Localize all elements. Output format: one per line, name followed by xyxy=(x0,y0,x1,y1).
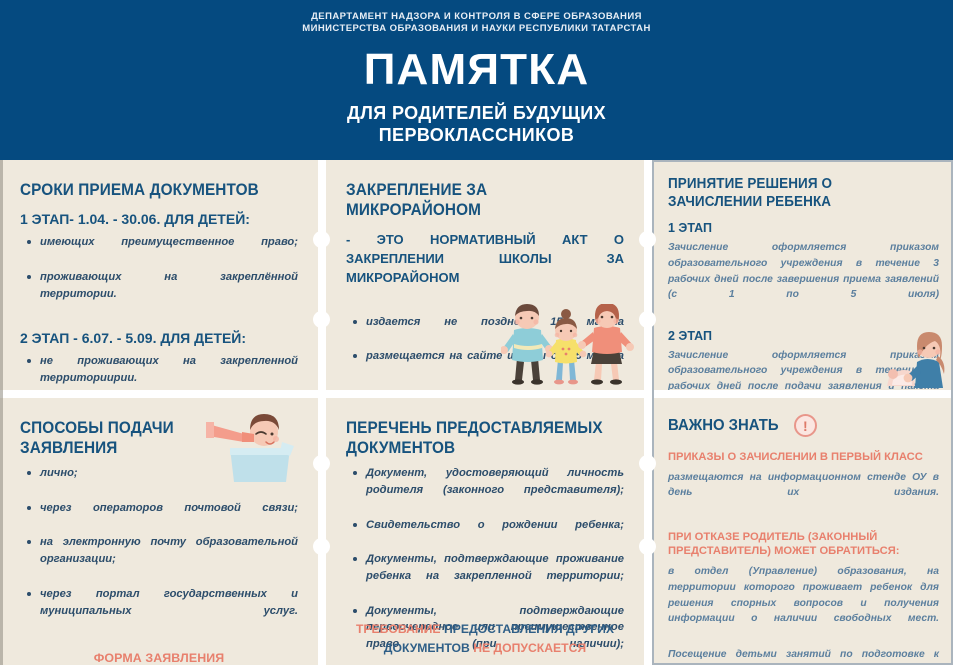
important-block-1-text: размещаются на информационном стенде ОУ … xyxy=(668,470,939,517)
panel-methods-title-line-2: ЗАЯВЛЕНИЯ xyxy=(20,438,279,458)
left-edge-strip xyxy=(0,160,3,665)
panel-documents-title-line-2: ДОКУМЕНТОВ xyxy=(346,438,605,458)
documents-note-red-1: ТРЕБОВАНИЕ xyxy=(356,622,441,636)
important-block-3-part-1: Посещение детьми занятий по подготовке к… xyxy=(668,649,939,665)
decision-stage-1-text: Зачисление оформляется приказом образова… xyxy=(668,240,939,318)
deadlines-stage-1-title: 1 ЭТАП- 1.04. - 30.06. ДЛЯ ДЕТЕЙ: xyxy=(20,211,298,227)
panel-decision: ПРИНЯТИЕ РЕШЕНИЯ О ЗАЧИСЛЕНИИ РЕБЕНКА 1 … xyxy=(652,160,953,390)
important-block-3-text: Посещение детьми занятий по подготовке к… xyxy=(668,647,939,665)
important-header: ВАЖНО ЗНАТЬ ! xyxy=(668,414,939,437)
list-item: проживающих на закреплённой территории. xyxy=(24,269,298,319)
panel-important-title: ВАЖНО ЗНАТЬ xyxy=(668,417,779,435)
divider-dot xyxy=(639,538,656,555)
list-item: Свидетельство о рождении ребенка; xyxy=(350,517,624,551)
methods-note-red: ФОРМА ЗАЯВЛЕНИЯ xyxy=(20,650,298,665)
methods-note: ФОРМА ЗАЯВЛЕНИЯ – НА САЙТЕ ОБРАЗОВАТЕЛЬН… xyxy=(20,650,298,665)
microdistrict-lead: - ЭТО НОРМАТИВНЫЙ АКТ О ЗАКРЕПЛЕНИИ ШКОЛ… xyxy=(346,231,624,306)
panel-decision-title-line-1: ПРИНЯТИЕ РЕШЕНИЯ О xyxy=(668,176,920,194)
panel-microdistrict: ЗАКРЕПЛЕНИЕ ЗА МИКРОРАЙОНОМ - ЭТО НОРМАТ… xyxy=(326,160,644,390)
divider-dot xyxy=(639,311,656,328)
important-block-2-caption: ПРИ ОТКАЗЕ РОДИТЕЛЬ (ЗАКОННЫЙ ПРЕДСТАВИТ… xyxy=(668,530,939,560)
department-line-2: МИНИСТЕРСТВА ОБРАЗОВАНИЯ И НАУКИ РЕСПУБЛ… xyxy=(302,23,651,35)
decision-stage-2-text: Зачисление оформляется приказом образова… xyxy=(668,348,939,390)
panel-methods: СПОСОБЫ ПОДАЧИ ЗАЯВЛЕНИЯ лично; через оп… xyxy=(0,398,318,665)
panel-methods-title-line-1: СПОСОБЫ ПОДАЧИ xyxy=(20,418,279,438)
panel-deadlines: СРОКИ ПРИЕМА ДОКУМЕНТОВ 1 ЭТАП- 1.04. - … xyxy=(0,160,318,390)
divider-dot xyxy=(639,455,656,472)
decision-stage-2-label: 2 ЭТАП xyxy=(668,329,939,343)
list-item: не проживающих на закрепленной территори… xyxy=(24,353,298,390)
divider-dot xyxy=(639,231,656,248)
department-line-1: ДЕПАРТАМЕНТ НАДЗОРА И КОНТРОЛЯ В СФЕРЕ О… xyxy=(311,11,642,23)
divider-dot xyxy=(313,231,330,248)
divider-dot xyxy=(313,455,330,472)
decision-stage-1-label: 1 ЭТАП xyxy=(668,221,939,235)
panel-microdistrict-title: ЗАКРЕПЛЕНИЕ ЗА МИКРОРАЙОНОМ xyxy=(346,180,605,220)
panel-documents-title-line-1: ПЕРЕЧЕНЬ ПРЕДОСТАВЛЯЕМЫХ xyxy=(346,418,605,438)
list-item: издается не позднее 15 марта xyxy=(350,314,624,348)
divider-dot xyxy=(313,538,330,555)
methods-list: лично; через операторов почтовой связи; … xyxy=(20,465,298,636)
deadlines-stage-2-title: 2 ЭТАП - 6.07. - 5.09. ДЛЯ ДЕТЕЙ: xyxy=(20,330,298,346)
exclamation-circle-icon: ! xyxy=(794,414,817,437)
page-subtitle: ДЛЯ РОДИТЕЛЕЙ БУДУЩИХ ПЕРВОКЛАССНИКОВ xyxy=(347,103,606,147)
documents-note-red-2: НЕ ДОПУСКАЕТСЯ xyxy=(473,641,586,655)
panel-deadlines-title: СРОКИ ПРИЕМА ДОКУМЕНТОВ xyxy=(20,180,279,200)
page-title: ПАМЯТКА xyxy=(364,48,590,92)
documents-note: ТРЕБОВАНИЕ ПРЕДОСТАВЛЕНИЯ ДРУГИХ ДОКУМЕН… xyxy=(342,620,628,657)
list-item: на электронную почту образовательной орг… xyxy=(24,534,298,584)
panel-decision-title-line-2: ЗАЧИСЛЕНИИ РЕБЕНКА xyxy=(668,194,920,212)
list-item: Документы, подтверждающие проживание реб… xyxy=(350,551,624,601)
panel-grid: СРОКИ ПРИЕМА ДОКУМЕНТОВ 1 ЭТАП- 1.04. - … xyxy=(0,160,953,665)
row-divider xyxy=(0,390,953,398)
divider-dot xyxy=(313,311,330,328)
important-block-1-caption: ПРИКАЗЫ О ЗАЧИСЛЕНИИ В ПЕРВЫЙ КЛАСС xyxy=(668,450,939,465)
deadlines-stage-2-list: не проживающих на закрепленной территори… xyxy=(20,353,298,390)
list-item: имеющих преимущественное право; xyxy=(24,234,298,268)
poster-header: ДЕПАРТАМЕНТ НАДЗОРА И КОНТРОЛЯ В СФЕРЕ О… xyxy=(0,0,953,160)
list-item: через операторов почтовой связи; xyxy=(24,500,298,534)
deadlines-stage-1-list: имеющих преимущественное право; проживаю… xyxy=(20,234,298,319)
important-block-2-text: в отдел (Управление) образования, на тер… xyxy=(668,564,939,642)
page-subtitle-line-1: ДЛЯ РОДИТЕЛЕЙ БУДУЩИХ xyxy=(347,103,606,125)
page-subtitle-line-2: ПЕРВОКЛАССНИКОВ xyxy=(347,125,606,147)
list-item: Документ, удостоверяющий личность родите… xyxy=(350,465,624,515)
microdistrict-list: издается не позднее 15 марта размещается… xyxy=(346,314,624,382)
list-item: размещается на сайте школы до 25 марта xyxy=(350,348,624,382)
panel-documents: ПЕРЕЧЕНЬ ПРЕДОСТАВЛЯЕМЫХ ДОКУМЕНТОВ Доку… xyxy=(326,398,644,665)
panel-important: ВАЖНО ЗНАТЬ ! ПРИКАЗЫ О ЗАЧИСЛЕНИИ В ПЕР… xyxy=(652,398,953,665)
list-item: через портал государственных и муниципал… xyxy=(24,586,298,636)
list-item: лично; xyxy=(24,465,298,499)
poster-root: ДЕПАРТАМЕНТ НАДЗОРА И КОНТРОЛЯ В СФЕРЕ О… xyxy=(0,0,953,665)
